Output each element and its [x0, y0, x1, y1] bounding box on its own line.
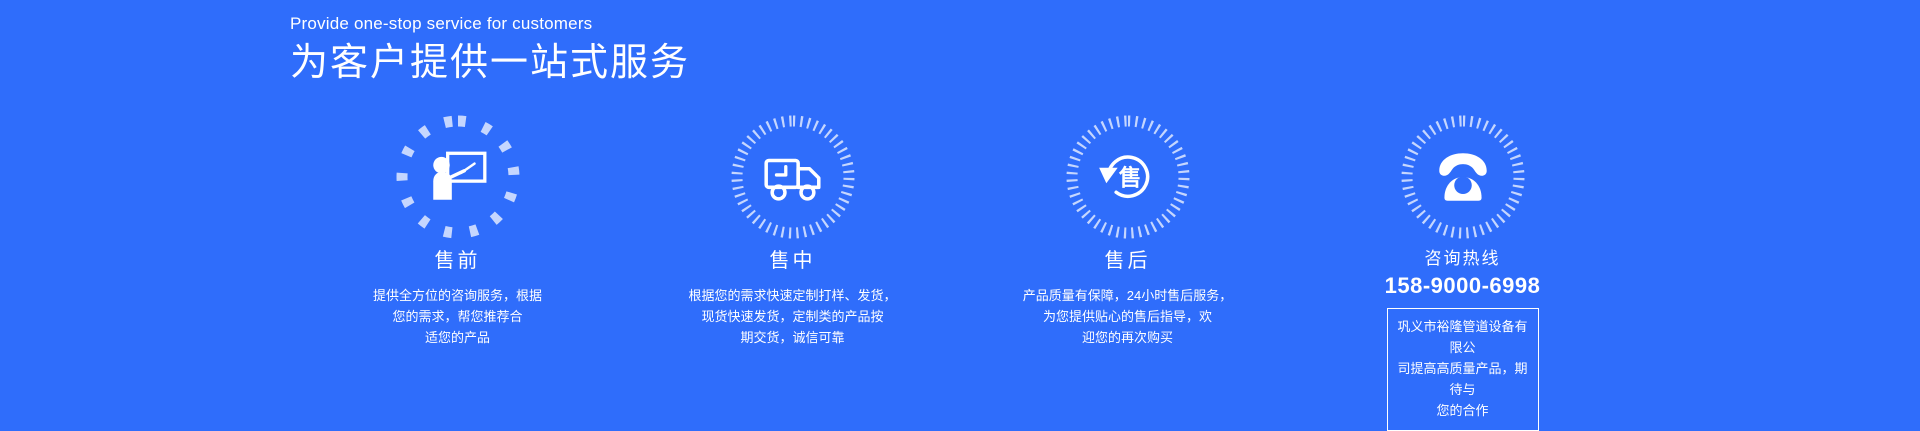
icon-container: 售 — [1063, 112, 1193, 242]
hotline-number[interactable]: 158-9000-6998 — [1385, 271, 1541, 301]
service-title: 售中 — [770, 248, 816, 274]
delivery-truck-icon — [760, 144, 826, 210]
service-description-line: 产品质量有保障，24小时售后服务， — [1003, 285, 1253, 306]
banner-title: 为客户提供一站式服务 — [290, 40, 1190, 88]
after-sales-icon-label: 售 — [1118, 164, 1141, 190]
telephone-icon — [1430, 144, 1496, 210]
service-columns: 售前 提供全方位的咨询服务，根据 您的需求，帮您推荐合 适您的产品 — [290, 112, 1630, 431]
icon-container — [1398, 112, 1528, 242]
service-description-line: 提供全方位的咨询服务，根据 — [333, 285, 583, 306]
icon-container — [728, 112, 858, 242]
service-description-line: 迎您的再次购买 — [1003, 327, 1253, 348]
icon-container — [393, 112, 523, 242]
banner-subtitle: Provide one-stop service for customers — [290, 14, 1190, 34]
service-description: 提供全方位的咨询服务，根据 您的需求，帮您推荐合 适您的产品 — [333, 285, 583, 348]
banner-heading: Provide one-stop service for customers 为… — [290, 14, 1190, 88]
company-info-line: 您的合作 — [1397, 400, 1529, 421]
service-description-line: 期交货，诚信可靠 — [668, 327, 918, 348]
service-description-line: 现货快速发货，定制类的产品按 — [668, 306, 918, 327]
company-info-line: 司提高高质量产品，期待与 — [1397, 358, 1529, 400]
service-title: 售前 — [435, 248, 481, 274]
presenter-board-icon — [425, 144, 491, 210]
service-title: 售后 — [1105, 248, 1151, 274]
service-column-after-sales[interactable]: 售 售后 产品质量有保障，24小时售后服务， 为您提供贴心的售后指导，欢 迎您的… — [960, 112, 1295, 348]
service-description: 产品质量有保障，24小时售后服务， 为您提供贴心的售后指导，欢 迎您的再次购买 — [1003, 285, 1253, 348]
service-description: 根据您的需求快速定制打样、发货， 现货快速发货，定制类的产品按 期交货，诚信可靠 — [668, 285, 918, 348]
company-info-line: 巩义市裕隆管道设备有限公 — [1397, 316, 1529, 358]
service-description-line: 根据您的需求快速定制打样、发货， — [668, 285, 918, 306]
hotline-label: 咨询热线 — [1425, 248, 1501, 270]
after-sales-refresh-icon: 售 — [1095, 144, 1161, 210]
company-info-box: 巩义市裕隆管道设备有限公 司提高高质量产品，期待与 您的合作 — [1387, 308, 1539, 431]
service-description-line: 您的需求，帮您推荐合 — [333, 306, 583, 327]
service-column-during-sales[interactable]: 售中 根据您的需求快速定制打样、发货， 现货快速发货，定制类的产品按 期交货，诚… — [625, 112, 960, 348]
hotline-column[interactable]: 咨询热线 158-9000-6998 巩义市裕隆管道设备有限公 司提高高质量产品… — [1295, 112, 1630, 431]
service-banner: Provide one-stop service for customers 为… — [0, 0, 1920, 413]
service-description-line: 为您提供贴心的售后指导，欢 — [1003, 306, 1253, 327]
service-description-line: 适您的产品 — [333, 327, 583, 348]
service-column-pre-sales[interactable]: 售前 提供全方位的咨询服务，根据 您的需求，帮您推荐合 适您的产品 — [290, 112, 625, 348]
